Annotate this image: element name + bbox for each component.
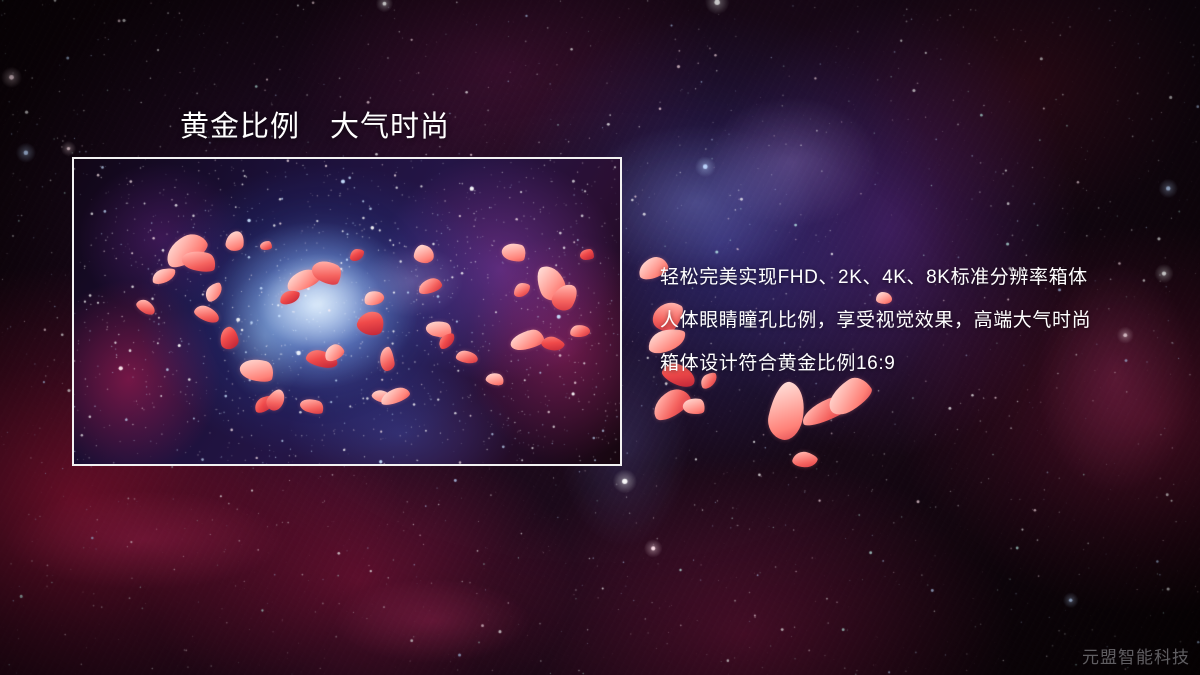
photo-frame	[72, 157, 622, 466]
watermark: 元盟智能科技	[1082, 643, 1190, 668]
photo-starfield	[74, 159, 620, 464]
slide-canvas: 黄金比例 大气时尚 轻松完美实现FHD、2K、4K、8K标准分辨率箱体 人体眼睛…	[0, 0, 1200, 675]
body-line-1: 轻松完美实现FHD、2K、4K、8K标准分辨率箱体	[660, 256, 1180, 299]
body-line-2: 人体眼睛瞳孔比例，享受视觉效果，高端大气时尚	[660, 299, 1180, 342]
page-title: 黄金比例 大气时尚	[180, 103, 450, 145]
body-copy: 轻松完美实现FHD、2K、4K、8K标准分辨率箱体 人体眼睛瞳孔比例，享受视觉效…	[660, 256, 1180, 385]
body-line-3: 箱体设计符合黄金比例16:9	[660, 342, 1180, 385]
